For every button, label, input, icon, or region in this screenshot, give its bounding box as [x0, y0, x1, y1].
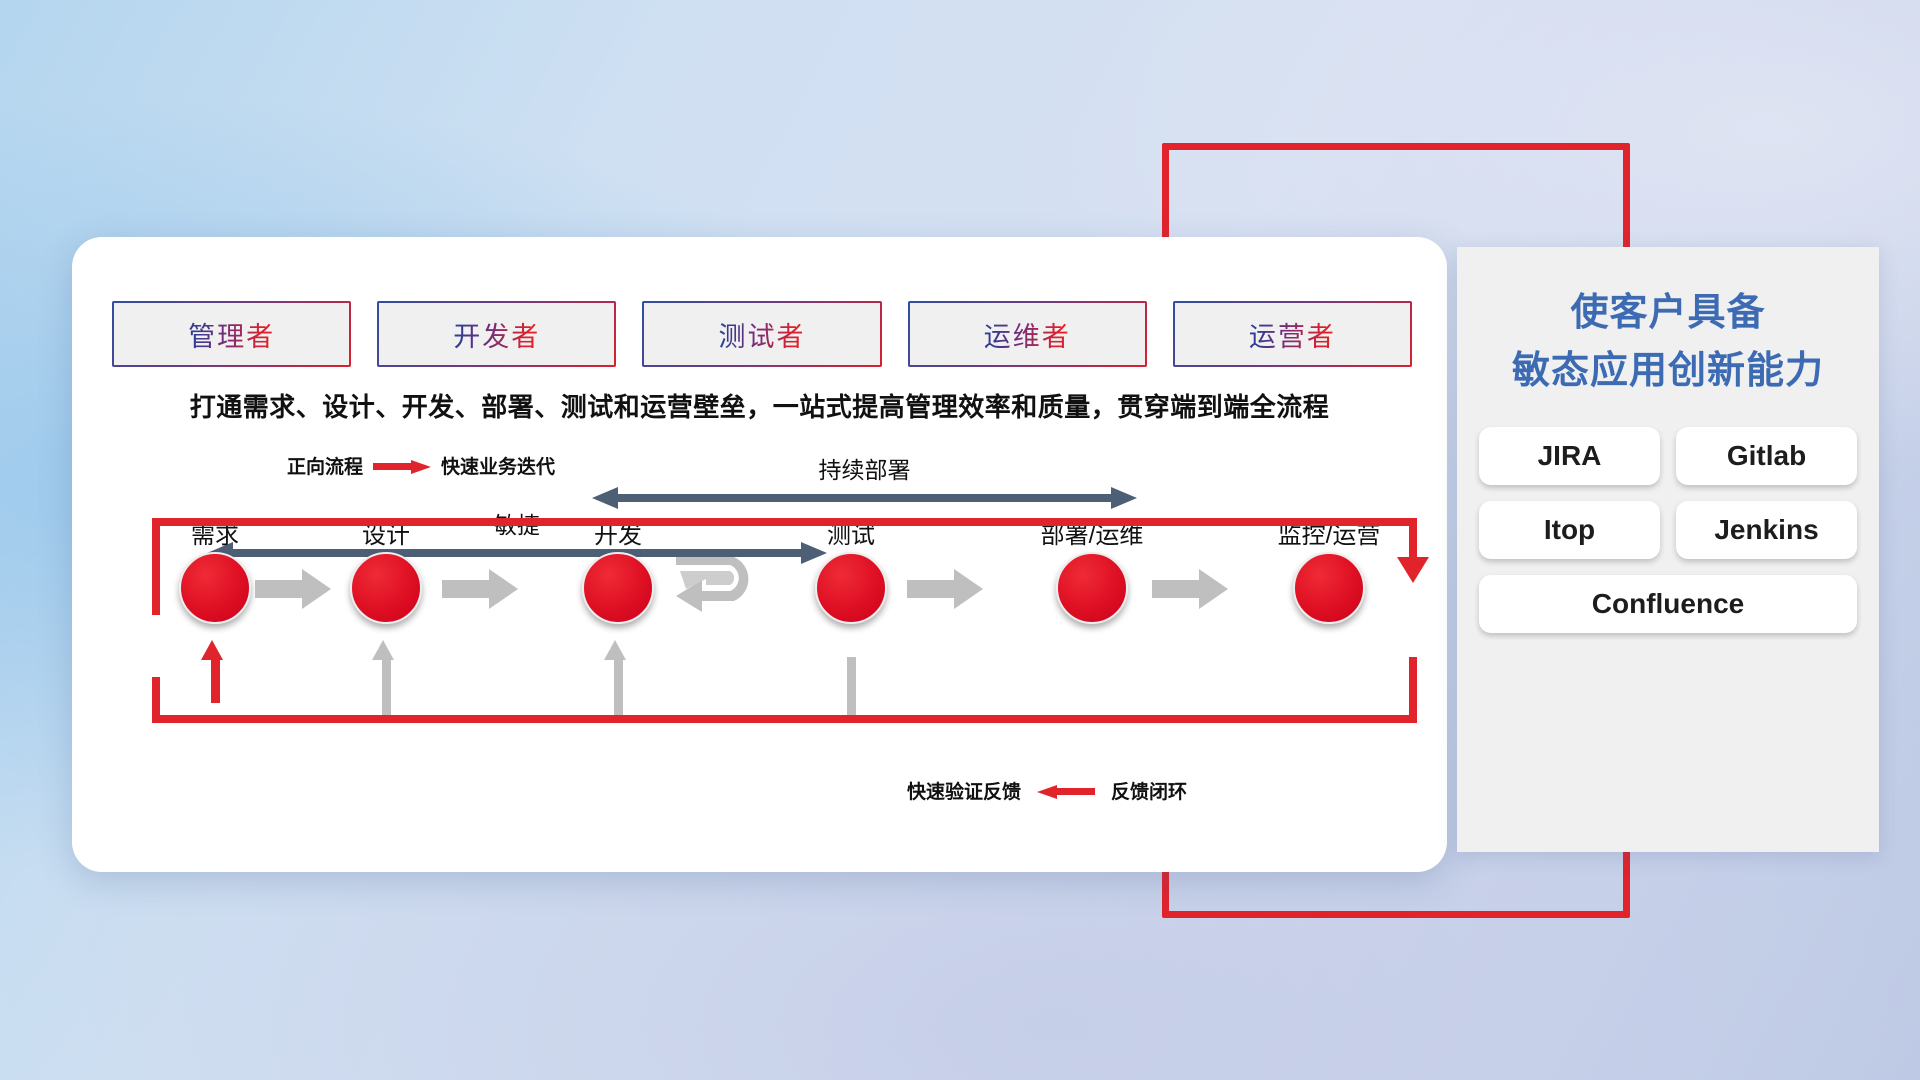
headline-text: 打通需求、设计、开发、部署、测试和运营壁垒，一站式提高管理效率和质量，贯穿端到端… — [72, 387, 1447, 424]
legend-forward-right-label: 快速业务迭代 — [441, 452, 555, 479]
diagram-canvas: 管理者 开发者 测试者 运维者 运营者 打通需求、设计、开发、部署、测试和运营壁… — [0, 0, 1920, 1080]
node-requirement[interactable] — [179, 552, 251, 624]
flow-arrow-dev-test-loop-icon — [672, 557, 768, 617]
legend-feedback-loop: 快速验证反馈 反馈闭环 — [907, 777, 1187, 804]
loop-right-leg — [1409, 518, 1417, 560]
stem-development — [614, 657, 623, 715]
tool-chip-list: JIRA Gitlab Itop Jenkins Confluence — [1479, 427, 1857, 633]
stem-design-head-icon — [372, 640, 394, 660]
flow-arrow-requirement-design — [255, 567, 331, 611]
outcome-panel: 使客户具备 敏态应用创新能力 JIRA Gitlab Itop Jenkins … — [1457, 247, 1879, 852]
loop-bottom-rail — [152, 715, 1417, 723]
role-chip-developer-label: 开发者 — [453, 315, 540, 354]
loop-down-arrowhead-icon — [1397, 557, 1429, 583]
role-chip-operations-label: 运营者 — [1249, 315, 1336, 354]
stem-testing — [847, 657, 856, 715]
role-chip-row: 管理者 开发者 测试者 运维者 运营者 — [112, 301, 1412, 367]
legend-feedback-left-label: 快速验证反馈 — [907, 777, 1021, 804]
span-arrow-continuous-deployment-label: 持续部署 — [592, 451, 1137, 485]
loop-right-descender — [1409, 657, 1417, 719]
flow-arrow-testing-deploy — [907, 567, 983, 611]
node-design[interactable] — [350, 552, 422, 624]
tool-chip-gitlab[interactable]: Gitlab — [1676, 427, 1857, 485]
tool-chip-jenkins[interactable]: Jenkins — [1676, 501, 1857, 559]
arrow-right-red-icon — [373, 460, 431, 472]
main-card: 管理者 开发者 测试者 运维者 运营者 打通需求、设计、开发、部署、测试和运营壁… — [72, 237, 1447, 872]
role-chip-developer[interactable]: 开发者 — [377, 301, 616, 367]
role-chip-tester-label: 测试者 — [719, 315, 806, 354]
legend-forward-left-label: 正向流程 — [287, 452, 363, 479]
node-testing[interactable] — [815, 552, 887, 624]
arrow-up-red-icon — [201, 640, 223, 660]
node-development[interactable] — [582, 552, 654, 624]
role-chip-operations[interactable]: 运营者 — [1173, 301, 1412, 367]
role-chip-ops[interactable]: 运维者 — [908, 301, 1147, 367]
role-chip-ops-label: 运维者 — [984, 315, 1071, 354]
tool-chip-confluence[interactable]: Confluence — [1479, 575, 1857, 633]
stem-design — [382, 657, 391, 715]
legend-forward-flow: 正向流程 快速业务迭代 — [287, 452, 555, 479]
loop-top-bar — [152, 518, 1417, 526]
outcome-panel-title: 使客户具备 敏态应用创新能力 — [1457, 285, 1879, 401]
role-chip-tester[interactable]: 测试者 — [642, 301, 881, 367]
stem-red-requirement — [211, 657, 220, 703]
loop-left-riser — [152, 677, 160, 723]
node-deploy-ops[interactable] — [1056, 552, 1128, 624]
legend-feedback-right-label: 反馈闭环 — [1111, 777, 1187, 804]
outcome-title-line-2: 敏态应用创新能力 — [1457, 343, 1879, 401]
loop-left-leg — [152, 518, 160, 615]
stem-development-head-icon — [604, 640, 626, 660]
flow-arrow-design-development — [442, 567, 518, 611]
flow-arrow-deploy-monitor — [1152, 567, 1228, 611]
outcome-title-line-1: 使客户具备 — [1457, 285, 1879, 343]
role-chip-manager-label: 管理者 — [188, 315, 275, 354]
arrow-left-red-icon — [1037, 785, 1095, 797]
node-monitor-operations[interactable] — [1293, 552, 1365, 624]
tool-chip-jira[interactable]: JIRA — [1479, 427, 1660, 485]
role-chip-manager[interactable]: 管理者 — [112, 301, 351, 367]
tool-chip-itop[interactable]: Itop — [1479, 501, 1660, 559]
